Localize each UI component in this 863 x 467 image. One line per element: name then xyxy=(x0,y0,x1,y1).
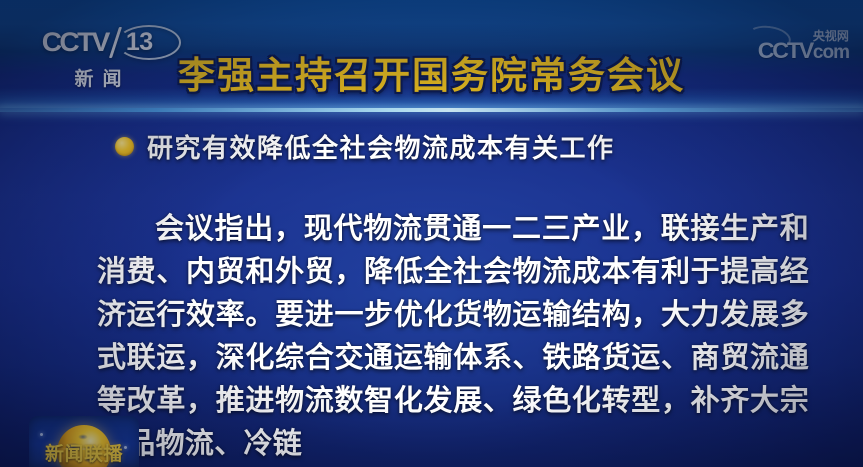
broadcast-screen: CCTV 13 新闻 CCTV 央视网 com 李强主持召开国务院常务会议 研究… xyxy=(0,0,863,467)
program-logo-label: 新闻联播 xyxy=(29,439,139,466)
watermark-cn-name: 央视网 xyxy=(813,30,849,42)
gold-dot-icon xyxy=(115,137,134,156)
subtitle-row: 研究有效降低全社会物流成本有关工作 xyxy=(115,128,615,165)
header-divider-line xyxy=(0,108,863,112)
subtitle-text: 研究有效降低全社会物流成本有关工作 xyxy=(147,128,615,165)
body-paragraph: 会议指出，现代物流贯通一二三产业，联接生产和消费、内贸和外贸，降低全社会物流成本… xyxy=(97,208,809,466)
xinwen-lianbo-logo: 新闻联播 xyxy=(29,416,139,467)
sparkle-icon xyxy=(40,433,43,436)
page-title: 李强主持召开国务院常务会议 xyxy=(0,45,863,99)
